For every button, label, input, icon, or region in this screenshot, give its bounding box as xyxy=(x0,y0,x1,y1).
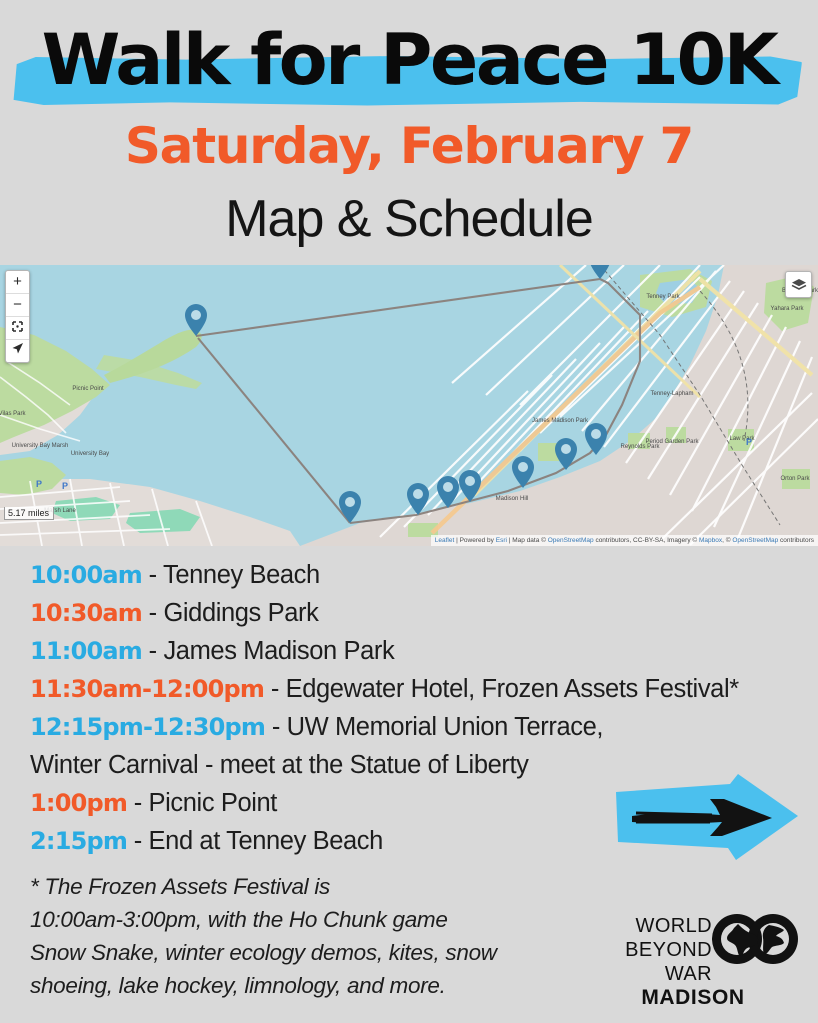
schedule-row: 10:00am - Tenney Beach xyxy=(30,556,800,594)
zoom-in-button[interactable]: + xyxy=(6,271,29,294)
logo-line-madison: MADISON xyxy=(600,986,786,1010)
event-date: Saturday, February 7 xyxy=(0,116,818,176)
attrib-osm-2[interactable]: OpenStreetMap xyxy=(732,537,778,544)
page-subtitle: Map & Schedule xyxy=(0,188,818,250)
attrib-leaflet[interactable]: Leaflet xyxy=(435,537,455,544)
svg-text:P: P xyxy=(746,437,752,447)
schedule-row: 11:00am - James Madison Park xyxy=(30,632,800,670)
schedule-time: 1:00pm xyxy=(30,789,127,817)
schedule-time: 10:30am xyxy=(30,599,142,627)
map-attribution: Leaflet | Powered by Esri | Map data © O… xyxy=(431,535,818,546)
logo-line-beyond: BEYOND xyxy=(600,938,712,962)
map-place-label: Yahara Park xyxy=(771,306,805,312)
map-place-label: Vilas Park xyxy=(0,411,26,417)
attrib-sep2: | Map data © xyxy=(507,537,548,544)
schedule-location: - End at Tenney Beach xyxy=(127,827,383,855)
logo-line-world: WORLD xyxy=(600,914,712,938)
schedule-row: 12:15pm-12:30pm - UW Memorial Union Terr… xyxy=(30,708,800,746)
expand-icon[interactable] xyxy=(6,317,29,340)
schedule-row: 10:30am - Giddings Park xyxy=(30,594,800,632)
schedule-time: 11:00am xyxy=(30,637,142,665)
schedule-time: 12:15pm-12:30pm xyxy=(30,713,265,741)
schedule-time: 10:00am xyxy=(30,561,142,589)
layers-icon[interactable] xyxy=(785,271,812,298)
svg-text:P: P xyxy=(36,479,42,489)
festival-footnote: * The Frozen Assets Festival is 10:00am-… xyxy=(30,870,590,1002)
attrib-esri[interactable]: Esri xyxy=(496,537,507,544)
schedule-location: Winter Carnival - meet at the Statue of … xyxy=(30,751,529,779)
map-place-label: University Bay Marsh xyxy=(12,443,69,449)
schedule-row: 11:30am-12:00pm - Edgewater Hotel, Froze… xyxy=(30,670,800,708)
footnote-line-2: 10:00am-3:00pm, with the Ho Chunk game xyxy=(30,903,590,936)
schedule-location: - Giddings Park xyxy=(142,599,318,627)
page-title: Walk for Peace 10K xyxy=(0,16,818,104)
infinity-globes-icon xyxy=(712,910,798,981)
map-place-label: Orton Park xyxy=(780,476,810,482)
right-arrow-icon xyxy=(612,772,802,864)
map-place-label: Madison Hill xyxy=(496,496,529,502)
schedule-location: - James Madison Park xyxy=(142,637,394,665)
zoom-out-button[interactable]: − xyxy=(6,294,29,317)
map-place-label: Period Garden Park xyxy=(645,439,699,445)
map-place-label: Tenney-Lapham xyxy=(650,391,693,397)
map-place-label: Picnic Point xyxy=(72,386,104,392)
schedule-time: 11:30am-12:00pm xyxy=(30,675,264,703)
poster-header: Walk for Peace 10K Saturday, February 7 … xyxy=(0,0,818,265)
map-place-label: James Madison Park xyxy=(532,418,589,424)
attrib-sep1: | Powered by xyxy=(454,537,495,544)
schedule-location: - UW Memorial Union Terrace, xyxy=(265,713,603,741)
navigation-arrow-icon[interactable] xyxy=(6,340,29,362)
svg-text:P: P xyxy=(62,481,68,491)
route-map[interactable]: Tenney ParkYahara ParkBurrows ParkLaw Pa… xyxy=(0,265,818,546)
map-place-label: University Bay xyxy=(71,451,109,457)
title-block: Walk for Peace 10K xyxy=(0,16,818,104)
schedule-location: - Edgewater Hotel, Frozen Assets Festiva… xyxy=(264,675,739,703)
logo-line-war: WAR xyxy=(600,962,712,986)
map-place-label: Tenney Park xyxy=(646,294,680,300)
attrib-sep4: , © xyxy=(722,537,732,544)
attrib-mapbox[interactable]: Mapbox xyxy=(699,537,722,544)
footnote-line-3: Snow Snake, winter ecology demos, kites,… xyxy=(30,936,590,969)
map-canvas: Tenney ParkYahara ParkBurrows ParkLaw Pa… xyxy=(0,265,818,546)
map-zoom-controls[interactable]: + − xyxy=(5,270,30,363)
attrib-osm-1[interactable]: OpenStreetMap xyxy=(548,537,594,544)
footnote-line-4: shoeing, lake hockey, limnology, and mor… xyxy=(30,969,590,1002)
map-scale-bar: 5.17 miles xyxy=(4,507,54,520)
logo-wordmark: WORLD BEYOND WAR xyxy=(600,914,712,986)
organization-logo: WORLD BEYOND WAR MADISON xyxy=(600,910,800,1010)
schedule-time: 2:15pm xyxy=(30,827,127,855)
schedule-location: - Tenney Beach xyxy=(142,561,320,589)
attrib-sep5: contributors xyxy=(778,537,814,544)
footnote-line-1: * The Frozen Assets Festival is xyxy=(30,870,590,903)
attrib-sep3: contributors, CC-BY-SA, Imagery © xyxy=(594,537,699,544)
schedule-location: - Picnic Point xyxy=(127,789,277,817)
